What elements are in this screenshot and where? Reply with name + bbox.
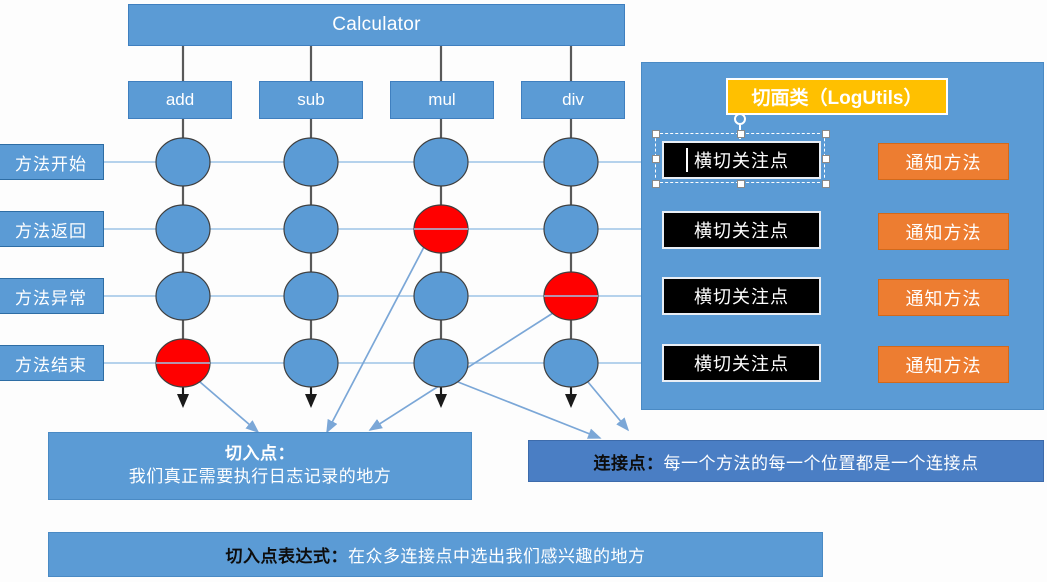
joinpoint-node[interactable] — [156, 205, 210, 253]
joinpoint-node[interactable] — [544, 138, 598, 186]
advice-method-box[interactable]: 通知方法 — [878, 143, 1009, 180]
callout-pointcut[interactable]: 切入点： 我们真正需要执行日志记录的地方 — [48, 432, 472, 500]
joinpoint-node[interactable] — [414, 339, 468, 387]
aspect-class-title[interactable]: 切面类（LogUtils） — [726, 78, 948, 115]
joinpoint-node[interactable] — [414, 272, 468, 320]
stage-label-text: 方法结束 — [15, 351, 87, 376]
stage-label-method-start[interactable]: 方法开始 — [0, 144, 104, 180]
class-box-calculator[interactable]: Calculator — [128, 4, 625, 46]
crosscutting-concern-label: 横切关注点 — [694, 350, 789, 376]
stage-label-method-exception[interactable]: 方法异常 — [0, 278, 104, 314]
class-box-label: Calculator — [332, 14, 421, 36]
joinpoint-node[interactable] — [284, 205, 338, 253]
method-box-label: add — [166, 90, 194, 110]
joinpoint-node[interactable] — [414, 138, 468, 186]
advice-method-box[interactable]: 通知方法 — [878, 213, 1009, 250]
rotation-stem — [739, 125, 741, 139]
advice-method-box[interactable]: 通知方法 — [878, 346, 1009, 383]
stage-label-method-return[interactable]: 方法返回 — [0, 211, 104, 247]
aop-diagram-canvas: Calculator add sub mul div 方法开始 方法返回 方法异… — [0, 0, 1047, 582]
joinpoint-node[interactable] — [156, 138, 210, 186]
advice-method-label: 通知方法 — [906, 149, 982, 175]
stage-label-text: 方法开始 — [15, 150, 87, 175]
method-box-sub[interactable]: sub — [259, 81, 363, 119]
crosscutting-concern-label: 横切关注点 — [694, 217, 789, 243]
stage-label-method-end[interactable]: 方法结束 — [0, 345, 104, 381]
method-box-label: mul — [428, 90, 455, 110]
crosscutting-concern-box[interactable]: 横切关注点 — [662, 277, 821, 315]
rotation-handle[interactable] — [734, 113, 746, 125]
aspect-class-title-label: 切面类（LogUtils） — [752, 83, 923, 110]
crosscutting-concern-box[interactable]: 横切关注点 — [662, 211, 821, 249]
callout-pointcut-description: 我们真正需要执行日志记录的地方 — [129, 466, 392, 489]
crosscutting-concern-label: 横切关注点 — [694, 147, 789, 173]
stage-label-text: 方法返回 — [15, 217, 87, 242]
callout-joinpoint[interactable]: 连接点： 每一个方法的每一个位置都是一个连接点 — [528, 440, 1044, 482]
method-box-add[interactable]: add — [128, 81, 232, 119]
text-cursor — [686, 148, 688, 172]
joinpoint-node[interactable] — [284, 272, 338, 320]
joinpoint-node[interactable] — [284, 339, 338, 387]
joinpoint-node[interactable] — [284, 138, 338, 186]
joinpoint-node[interactable] — [544, 205, 598, 253]
stage-label-text: 方法异常 — [15, 284, 87, 309]
advice-method-box[interactable]: 通知方法 — [878, 279, 1009, 316]
callout-pointcut-title: 切入点： — [225, 443, 295, 466]
callout-joinpoint-lead: 连接点： — [594, 449, 664, 474]
advice-method-label: 通知方法 — [906, 285, 982, 311]
crosscutting-concern-label: 横切关注点 — [694, 283, 789, 309]
joinpoint-node[interactable] — [544, 339, 598, 387]
callout-pointcut-expression[interactable]: 切入点表达式： 在众多连接点中选出我们感兴趣的地方 — [48, 532, 823, 577]
method-box-label: div — [562, 90, 584, 110]
callout-pointcut-expression-description: 在众多连接点中选出我们感兴趣的地方 — [348, 542, 646, 567]
method-box-mul[interactable]: mul — [390, 81, 494, 119]
advice-method-label: 通知方法 — [906, 352, 982, 378]
callout-pointcut-expression-lead: 切入点表达式： — [226, 542, 349, 567]
callout-joinpoint-description: 每一个方法的每一个位置都是一个连接点 — [664, 449, 979, 474]
aspect-panel: 切面类（LogUtils） 横切关注点 通知方法 横切关注点 通知方法 横切关注… — [641, 62, 1044, 410]
node-rail-overlay — [156, 229, 598, 363]
crosscutting-concern-box[interactable]: 横切关注点 — [662, 344, 821, 382]
method-box-label: sub — [297, 90, 324, 110]
advice-method-label: 通知方法 — [906, 219, 982, 245]
joinpoint-node[interactable] — [156, 272, 210, 320]
method-box-div[interactable]: div — [521, 81, 625, 119]
